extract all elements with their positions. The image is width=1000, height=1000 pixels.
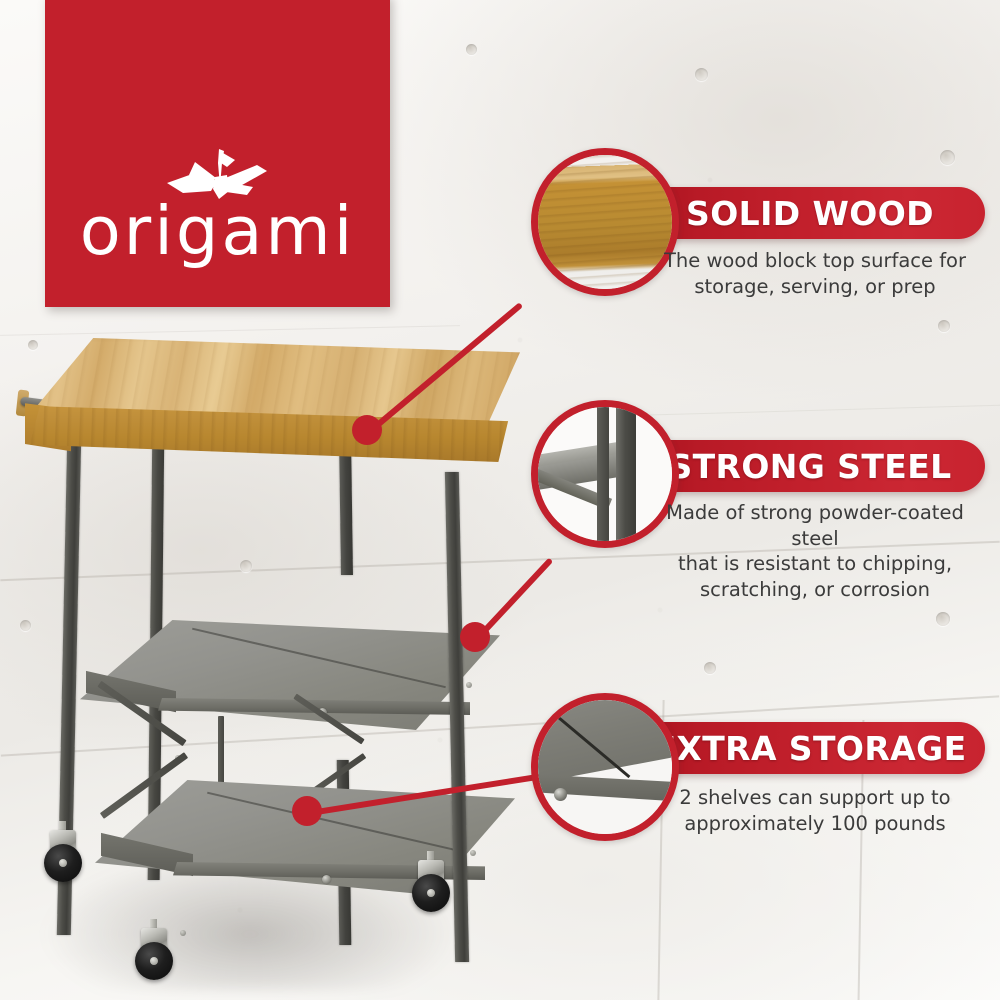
feature-description-strong-steel: Made of strong powder-coated steel that …	[640, 500, 990, 603]
feature-title: STRONG STEEL	[668, 447, 951, 486]
brand-logo-block: origami	[45, 0, 390, 307]
wall-divot	[938, 320, 950, 332]
wall-divot	[704, 662, 716, 674]
product-image-cart	[0, 330, 560, 1000]
caster-hub	[427, 889, 435, 897]
feature-pill-extra-storage[interactable]: EXTRA STORAGE	[635, 722, 985, 774]
steel-post-rear	[597, 400, 609, 548]
caster-hub	[59, 859, 67, 867]
infographic-canvas: origami	[0, 0, 1000, 1000]
feature-description-solid-wood: The wood block top surface for storage, …	[650, 248, 980, 299]
wall-divot	[940, 150, 955, 165]
callout-anchor-dot-1	[352, 415, 382, 445]
cart-caster-front-left	[135, 928, 173, 984]
wall-divot	[466, 44, 477, 55]
shelf-pivot-rivet	[322, 875, 331, 884]
shelf-pivot-pin-closeup	[554, 788, 567, 801]
brand-wordmark: origami	[80, 201, 356, 263]
feature-pill-strong-steel[interactable]: STRONG STEEL	[635, 440, 985, 492]
cart-caster-back-left	[44, 830, 82, 886]
steel-post-front	[616, 400, 636, 548]
feature-title: EXTRA STORAGE	[653, 729, 966, 768]
cart-caster-front-right	[412, 860, 450, 916]
feature-description-extra-storage: 2 shelves can support up to approximatel…	[650, 785, 980, 836]
feature-pill-solid-wood[interactable]: SOLID WOOD	[635, 187, 985, 239]
callout-anchor-dot-3	[292, 796, 322, 826]
frame-screw	[180, 930, 186, 936]
feature-title: SOLID WOOD	[686, 194, 934, 233]
caster-hub	[150, 957, 158, 965]
callout-anchor-dot-2	[460, 622, 490, 652]
frame-screw	[470, 850, 476, 856]
frame-screw	[466, 682, 472, 688]
cart-vertical-brace	[218, 716, 224, 788]
wall-divot	[695, 68, 708, 81]
wall-divot	[936, 612, 950, 626]
